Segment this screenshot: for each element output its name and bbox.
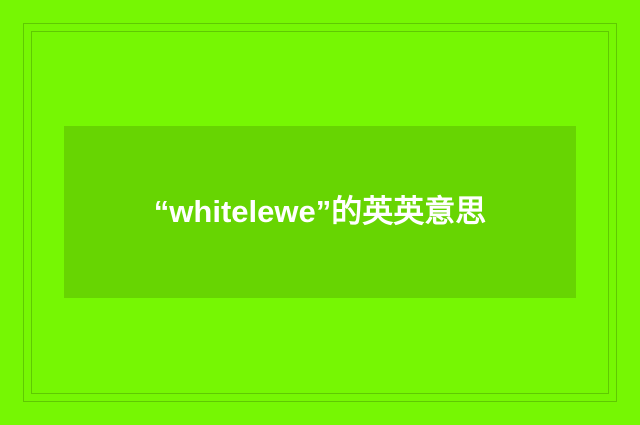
title-plate: “whitelewe”的英英意思 [64,126,576,298]
page-title: “whitelewe”的英英意思 [140,181,500,243]
page-canvas: “whitelewe”的英英意思 [0,0,640,425]
